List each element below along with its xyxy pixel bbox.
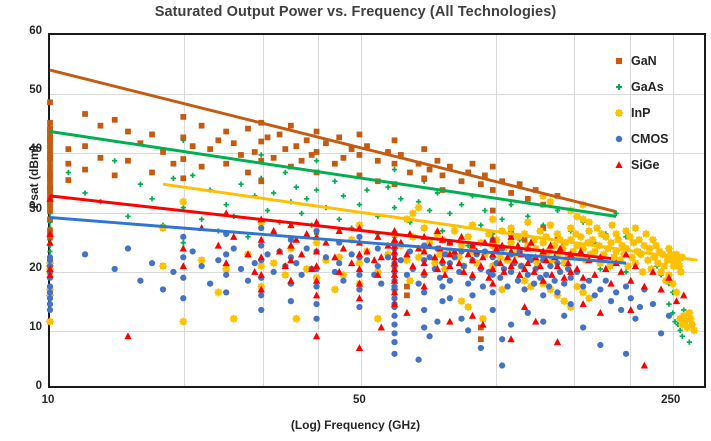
y-tick-label: 30	[2, 203, 42, 215]
legend-item-inp[interactable]: InP	[612, 100, 704, 126]
chart-legend: GaNGaAsInPCMOSSiGe	[612, 48, 704, 178]
legend-marker-triangle-icon	[612, 158, 626, 172]
trendline-gaas	[50, 132, 616, 217]
plot-area	[48, 33, 706, 388]
y-tick-label: 20	[2, 262, 42, 274]
legend-label: CMOS	[631, 132, 669, 146]
trendline-sige	[50, 196, 611, 259]
legend-item-gan[interactable]: GaN	[612, 48, 704, 74]
trendline-gan	[50, 70, 616, 212]
legend-marker-plus-icon	[612, 80, 626, 94]
legend-label: GaN	[631, 54, 657, 68]
x-axis-title: (Log) Frequency (GHz)	[0, 418, 711, 432]
legend-item-cmos[interactable]: CMOS	[612, 126, 704, 152]
y-tick-label: 50	[2, 84, 42, 96]
legend-item-sige[interactable]: SiGe	[612, 152, 704, 178]
y-tick-label: 10	[2, 321, 42, 333]
chart-title: Saturated Output Power vs. Frequency (Al…	[0, 4, 711, 20]
trendlines-layer	[50, 35, 704, 386]
legend-marker-square-cross-icon	[612, 106, 626, 120]
y-tick-label: 60	[2, 25, 42, 37]
legend-label: InP	[631, 106, 650, 120]
legend-label: SiGe	[631, 158, 660, 172]
x-tick-label: 50	[339, 394, 379, 406]
chart-container: Saturated Output Power vs. Frequency (Al…	[0, 0, 711, 441]
y-tick-label: 40	[2, 143, 42, 155]
y-axis-title: Psat (dBm)	[27, 117, 41, 237]
x-tick-label: 250	[651, 394, 691, 406]
y-tick-label: 0	[2, 380, 42, 392]
x-tick-label: 10	[28, 394, 68, 406]
legend-label: GaAs	[631, 80, 664, 94]
legend-marker-square-icon	[612, 54, 626, 68]
legend-item-gaas[interactable]: GaAs	[612, 74, 704, 100]
trendline-cmos	[50, 218, 626, 264]
legend-marker-circle-icon	[612, 132, 626, 146]
